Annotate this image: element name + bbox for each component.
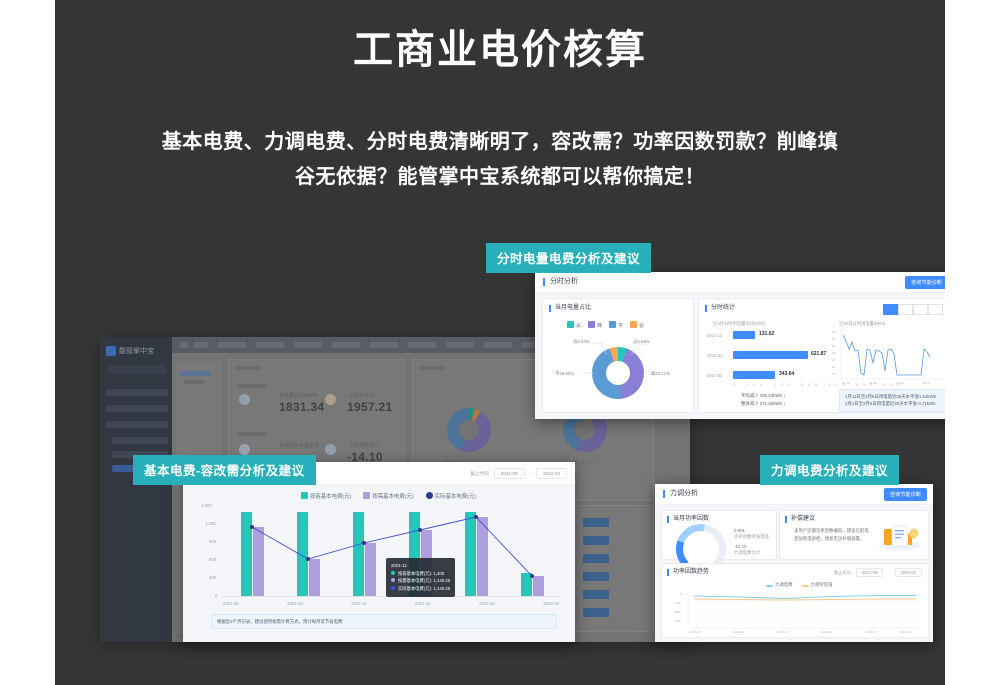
litiao-dashboard-screenshot: 力调分析 咨询节能诊断 当月功率因数 0.901 功率因数考核基准 -14.10… <box>655 484 933 642</box>
svg-text:-300: -300 <box>674 619 680 623</box>
date-range-filter[interactable]: 截止时间 2021-09 - 2022-02 <box>470 468 567 479</box>
svg-text:0: 0 <box>680 592 682 596</box>
power-factor-icon <box>239 444 250 455</box>
svg-text:50: 50 <box>832 344 836 348</box>
date-label: 截止时间 <box>470 471 488 477</box>
donut-panel: 当月电量占比 尖 峰 平 谷 尖5.69% 峰42.11% 平46.65% 谷5… <box>542 298 694 413</box>
tooltip-row-1: 按需基本电费(元): 1,145.25 <box>391 577 450 585</box>
bg-table-action-1b[interactable] <box>583 536 609 545</box>
period-month[interactable] <box>913 304 928 315</box>
bg-sidebar-item-0[interactable] <box>106 389 168 396</box>
legend-rongliang: 按容基本电费(元) <box>301 492 351 500</box>
bg-sidebar-item-3[interactable] <box>112 437 168 444</box>
bg-sidebar: 能管掌中宝 <box>100 337 172 642</box>
stat-0: 平均减少 430.23kWh ↓ <box>741 393 786 399</box>
period-week[interactable] <box>898 304 913 315</box>
svg-text:10: 10 <box>832 372 836 376</box>
svg-text:2022-02: 2022-02 <box>900 630 911 634</box>
shiduan-note: 1月11日至2月6日用电量近30天水平值1.64kWh 2月2日至2月6日用电量… <box>839 389 945 412</box>
marketing-page: 工商业电价核算 基本电费、力调电费、分时电费清晰明了，容改需？功率因数罚款？削峰… <box>0 0 1000 685</box>
bg-tab-9[interactable] <box>484 342 512 348</box>
date-from[interactable]: 2021-09 <box>494 468 525 479</box>
trend-panel: 功率因数趋势 截止时间 2021-09 - 2022-02 力调电费 力调奖惩值… <box>661 563 929 638</box>
consult-button[interactable]: 咨询节能诊断 <box>905 276 945 289</box>
bg-tab-8[interactable] <box>446 342 474 348</box>
badge-litiao: 力调电费分析及建议 <box>760 455 899 485</box>
app-logo-icon <box>106 346 116 356</box>
bg-tab-5[interactable] <box>332 342 360 348</box>
svg-text:20: 20 <box>832 365 836 369</box>
bg-tab-4[interactable] <box>294 342 322 348</box>
advice-illustration-icon <box>878 521 922 551</box>
svg-text:40: 40 <box>832 351 836 355</box>
fee-icon <box>325 394 336 405</box>
svg-text:01-20: 01-20 <box>869 381 877 385</box>
gauge-needle <box>701 538 709 549</box>
bg-table-action-3b[interactable] <box>583 572 609 581</box>
litiao-consult-button[interactable]: 咨询节能诊断 <box>884 488 927 501</box>
svg-text:2021-12: 2021-12 <box>822 630 833 634</box>
bg-tab-3[interactable] <box>256 342 284 348</box>
page-title: 工商业电价核算 <box>55 26 945 74</box>
shiduan-title: 分时分析 <box>543 278 578 286</box>
chart-tooltip: 2021-12 按容基本电费(元): 1,400 按需基本电费(元): 1,14… <box>386 558 455 597</box>
trend-chart: 0 -100 -200 -300 2021-09 2021-10 2021-11… <box>672 590 922 634</box>
trend-date-from[interactable]: 2021-09 <box>856 568 883 577</box>
jiben-chart: 1,500 1,200 900 600 300 0 <box>199 506 559 596</box>
bg-table-action-4b[interactable] <box>583 590 609 599</box>
trend-legend: 力调电费 力调奖惩值 <box>766 582 833 588</box>
litiao-icon <box>325 444 336 455</box>
svg-text:60: 60 <box>832 337 836 341</box>
bg-tab-0[interactable] <box>180 342 188 348</box>
donut-leader-lines <box>543 299 693 412</box>
litiao-header: 力调分析 咨询节能诊断 <box>655 484 933 505</box>
bar-1 <box>733 351 808 359</box>
shiduan-header: 分时分析 咨询节能诊断 <box>535 272 945 293</box>
subtitle-line-1: 基本电费、力调电费、分时电费清晰明了，容改需？功率因数罚款？削峰填 <box>115 125 885 160</box>
page-subtitle: 基本电费、力调电费、分时电费清晰明了，容改需？功率因数罚款？削峰填 谷无依据？能… <box>115 125 885 195</box>
period-day[interactable] <box>883 304 898 315</box>
bg-tab-6[interactable] <box>370 342 398 348</box>
jiben-footer-note: 根据近6个月记录，建议使用按需计费方式，预计每月可节省电费 <box>211 614 557 629</box>
svg-text:02-07: 02-07 <box>923 381 931 385</box>
period-year[interactable] <box>928 304 943 315</box>
jiben-legend: 按容基本电费(元) 按需基本电费(元) 实际基本电费(元) <box>301 492 476 500</box>
svg-text:2021-09: 2021-09 <box>690 630 701 634</box>
bg-tab-1[interactable] <box>194 342 208 348</box>
bg-logo: 能管掌中宝 <box>106 344 166 357</box>
svg-text:2022-01: 2022-01 <box>866 630 877 634</box>
bg-sidebar-item-2[interactable] <box>106 421 168 428</box>
bg-donut-chart-1 <box>447 408 491 452</box>
tooltip-title: 2021-12 <box>391 562 450 570</box>
bg-table-action-2b[interactable] <box>583 554 609 563</box>
svg-text:70: 70 <box>832 330 836 334</box>
period-switch[interactable] <box>883 304 943 315</box>
advice-panel: 补偿建议 该用户近期功率因数偏低，建议在配电室加装电容柜，增加无功补偿容量。 <box>779 510 929 560</box>
advice-text: 该用户近期功率因数偏低，建议在配电室加装电容柜，增加无功补偿容量。 <box>794 527 872 543</box>
bg-table-action-5b[interactable] <box>583 608 609 617</box>
svg-text:01-29: 01-29 <box>896 381 904 385</box>
bg-logo-label: 能管掌中宝 <box>119 346 154 356</box>
legend-xuliang: 按需基本电费(元) <box>363 492 413 500</box>
legend-litiao-fee: 力调电费 <box>766 582 793 588</box>
bar-2 <box>733 371 775 379</box>
bg-tab-7[interactable] <box>408 342 436 348</box>
line-chart: 70 60 50 40 30 20 10 01-11 01-20 01-29 0… <box>832 327 944 385</box>
trend-date-filter[interactable]: 截止时间 2021-09 - 2022-02 <box>834 568 922 577</box>
badge-shiduan: 分时电量电费分析及建议 <box>486 243 651 273</box>
dark-canvas: 工商业电价核算 基本电费、力调电费、分时电费清晰明了，容改需？功率因数罚款？削峰… <box>55 0 945 685</box>
svg-text:-100: -100 <box>674 601 680 605</box>
bg-sidebar-item-1[interactable] <box>106 405 168 412</box>
legend-actual: 实际基本电费(元) <box>426 492 476 500</box>
svg-text:30: 30 <box>832 358 836 362</box>
subtitle-line-2: 谷无依据？能管掌中宝系统都可以帮你搞定！ <box>115 160 885 195</box>
date-sep: - <box>530 471 532 476</box>
shiduan-stats-panel: 分时统计 近3月分时用电量对比(kWh) 2021-12 131.62 2022… <box>698 298 945 413</box>
svg-text:2021-11: 2021-11 <box>778 630 789 634</box>
trend-date-to[interactable]: 2022-02 <box>895 568 922 577</box>
tooltip-row-0: 按容基本电费(元): 1,400 <box>391 570 450 578</box>
jiben-x-axis: 2021-09 2021-10 2021-11 2021-12 2022-01 … <box>223 601 559 606</box>
bg-tab-2[interactable] <box>218 342 246 348</box>
bg-sidebar-account <box>108 365 166 374</box>
date-to[interactable]: 2022-02 <box>536 468 567 479</box>
shiduan-dashboard-screenshot: 分时分析 咨询节能诊断 当月电量占比 尖 峰 平 谷 尖5.69% 峰42.11… <box>535 272 945 419</box>
bg-table-action-0b[interactable] <box>583 518 609 527</box>
svg-text:01-11: 01-11 <box>842 381 850 385</box>
tooltip-row-2: 实际基本电费(元): 1,145.25 <box>391 585 450 593</box>
gauge-panel: 当月功率因数 0.901 功率因数考核基准 -14.10 力调电费合计 <box>661 510 777 560</box>
bar-0 <box>733 331 755 339</box>
stat-1: 整体减少 271.62kWh ↓ <box>741 401 786 407</box>
svg-text:2021-10: 2021-10 <box>734 630 745 634</box>
legend-litiao-reward: 力调奖惩值 <box>802 582 833 588</box>
svg-text:-200: -200 <box>674 610 680 614</box>
electricity-icon <box>239 394 250 405</box>
jiben-dashboard-screenshot: 基本电费列表 截止时间 2021-09 - 2022-02 按容基本电费(元) … <box>183 462 575 642</box>
badge-jiben: 基本电费-容改需分析及建议 <box>133 455 316 485</box>
